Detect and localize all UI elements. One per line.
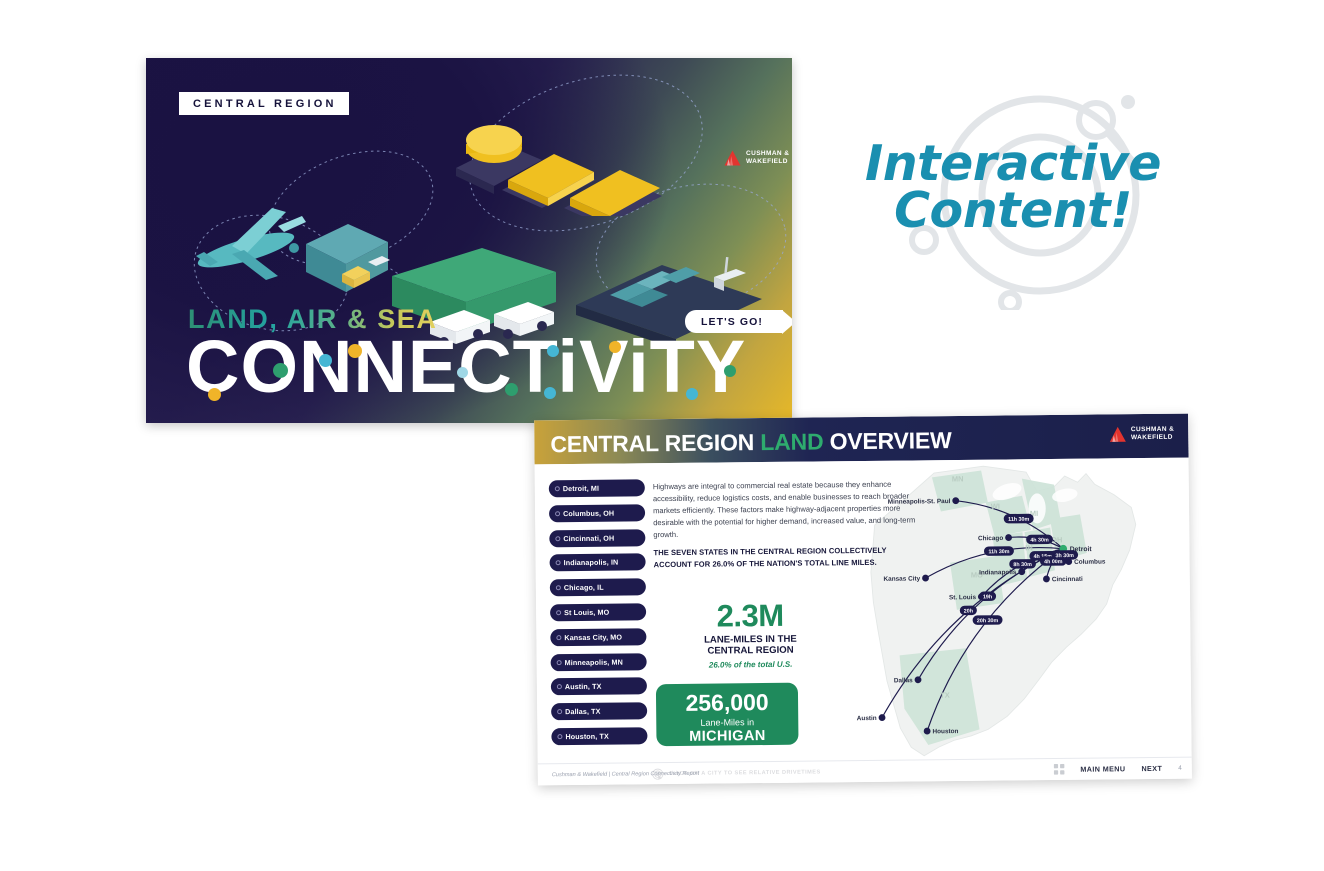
city-pill[interactable]: Houston, TX xyxy=(551,727,647,745)
city-pill[interactable]: Detroit, MI xyxy=(549,479,645,497)
slide-header: CENTRAL REGION LAND OVERVIEW CUSHMAN & W… xyxy=(534,414,1188,465)
drivetime-pill-label: 20h 30m xyxy=(977,618,999,624)
map-city-label: Austin xyxy=(857,715,877,722)
promo-headline-line1: Interactive xyxy=(838,140,1188,187)
drivetime-pill: 20h xyxy=(960,606,977,616)
map-city-label: Dallas xyxy=(894,677,913,684)
city-pill[interactable]: Austin, TX xyxy=(551,678,647,696)
map-state-label: IN xyxy=(1025,543,1033,552)
map-city-label: Kansas City xyxy=(883,575,920,582)
cushman-wakefield-logo: CUSHMAN & WAKEFIELD xyxy=(1109,426,1174,443)
land-overview-slide[interactable]: CENTRAL REGION LAND OVERVIEW CUSHMAN & W… xyxy=(534,414,1192,786)
cw-logo-mark xyxy=(1109,426,1126,442)
header-title-accent: LAND xyxy=(760,428,823,455)
drivetime-pill: 8h 30m xyxy=(1009,559,1036,569)
drivetime-pill-label: 3h 30m xyxy=(1055,553,1074,559)
lane-miles-stat: 2.3M LANE-MILES IN THE CENTRAL REGION 26… xyxy=(660,599,841,670)
highlight-number: 256,000 xyxy=(656,691,798,715)
accent-dot xyxy=(547,345,559,357)
slide-body: MNWIMIILINOHMOTX Minneapolis-St. PaulChi… xyxy=(535,458,1192,786)
city-pill-label: St Louis, MO xyxy=(564,608,609,617)
cw-logo-line1: CUSHMAN & xyxy=(746,150,789,158)
header-title-pre: CENTRAL REGION xyxy=(550,429,760,457)
city-pill-label: Columbus, OH xyxy=(563,508,614,518)
intro-text-block: Highways are integral to commercial real… xyxy=(653,478,918,570)
map-state-label: TX xyxy=(940,691,950,700)
drivetime-pill-label: 20h xyxy=(964,608,973,614)
michigan-highlight-box: 256,000 Lane-Miles in MICHIGAN xyxy=(656,683,799,746)
location-pin-icon xyxy=(555,486,560,491)
accent-dot xyxy=(544,387,556,399)
cushman-wakefield-logo: CUSHMAN & WAKEFIELD xyxy=(724,150,789,166)
drivetime-pill: 3h 30m xyxy=(1051,550,1078,560)
drivetime-pill-label: 19h xyxy=(983,594,992,600)
location-pin-icon xyxy=(557,660,562,665)
footer-credit: Cushman & Wakefield | Central Region Con… xyxy=(552,770,700,778)
city-pill[interactable]: Minneapolis, MN xyxy=(551,653,647,671)
city-pill-label: Austin, TX xyxy=(565,682,602,691)
stat-sublabel: 26.0% of the total U.S. xyxy=(661,659,841,670)
city-list[interactable]: Detroit, MIColumbus, OHCincinnati, OHInd… xyxy=(549,479,648,753)
cover-slide[interactable]: CENTRAL REGION CUSHMAN & WAKEFIELD Bette… xyxy=(146,58,792,423)
map-city-label: St. Louis xyxy=(949,594,977,601)
drivetime-pill: 19h xyxy=(979,591,996,601)
map-state-label: MN xyxy=(952,474,964,483)
drivetime-pill: 11h 30m xyxy=(984,546,1014,556)
map-city-label: Houston xyxy=(932,728,958,735)
promo-headline: Interactive Content! xyxy=(838,140,1188,234)
footer-nav[interactable]: MAIN MENU NEXT 4 xyxy=(1053,763,1182,775)
accent-dot xyxy=(273,363,288,378)
map-city-label: Columbus xyxy=(1074,559,1106,566)
drivetime-pill: 4h 30m xyxy=(1026,535,1053,545)
city-pill-label: Minneapolis, MN xyxy=(565,657,623,667)
location-pin-icon xyxy=(557,685,562,690)
cw-logo-mark xyxy=(724,150,741,166)
city-pill[interactable]: Kansas City, MO xyxy=(550,628,646,646)
main-menu-button[interactable]: MAIN MENU xyxy=(1080,764,1125,773)
stat-number: 2.3M xyxy=(660,599,840,632)
cw-logo-text: CUSHMAN & WAKEFIELD xyxy=(746,150,789,165)
highlight-middle-label: Lane-Miles in xyxy=(656,717,798,728)
highlight-state: MICHIGAN xyxy=(656,728,798,745)
grid-menu-icon[interactable] xyxy=(1053,764,1064,775)
location-pin-icon xyxy=(557,709,562,714)
city-pill[interactable]: Cincinnati, OH xyxy=(549,529,645,547)
city-pill-label: Dallas, TX xyxy=(565,707,600,716)
location-pin-icon xyxy=(556,561,561,566)
location-pin-icon xyxy=(557,734,562,739)
location-pin-icon xyxy=(556,635,561,640)
city-pill[interactable]: Indianapolis, IN xyxy=(550,554,646,572)
accent-dot xyxy=(348,344,362,358)
drivetime-pill: 11h 30m xyxy=(1004,514,1034,524)
drivetime-pill-label: 4h 30m xyxy=(1030,537,1049,543)
slide-footer: Cushman & Wakefield | Central Region Con… xyxy=(538,757,1192,786)
stat-label-line2: CENTRAL REGION xyxy=(660,645,840,658)
slide-header-title: CENTRAL REGION LAND OVERVIEW xyxy=(550,427,951,458)
location-pin-icon xyxy=(556,610,561,615)
freight-train-illustration xyxy=(446,96,766,216)
city-pill-label: Indianapolis, IN xyxy=(564,558,619,568)
accent-dot xyxy=(457,367,468,378)
location-pin-icon xyxy=(555,536,560,541)
cw-logo-line2: WAKEFIELD xyxy=(746,158,789,166)
city-pill-label: Kansas City, MO xyxy=(564,632,622,642)
accent-dot xyxy=(724,365,736,377)
intro-paragraph-bold: THE SEVEN STATES IN THE CENTRAL REGION C… xyxy=(653,544,917,570)
drivetime-pill-label: 11h 30m xyxy=(1008,517,1029,523)
map-city-label: Cincinnati xyxy=(1052,576,1083,583)
drivetime-pill-label: 11h 30m xyxy=(988,549,1009,555)
accent-dot xyxy=(319,354,332,367)
map-city-node[interactable] xyxy=(879,714,886,721)
cw-logo-line2: WAKEFIELD xyxy=(1131,434,1174,442)
header-title-post: OVERVIEW xyxy=(823,427,951,454)
city-pill[interactable]: Chicago, IL xyxy=(550,578,646,596)
location-pin-icon xyxy=(556,585,561,590)
city-pill-label: Cincinnati, OH xyxy=(563,533,614,543)
city-pill-label: Houston, TX xyxy=(565,732,609,741)
city-pill-label: Chicago, IL xyxy=(564,583,604,592)
next-button[interactable]: NEXT xyxy=(1141,764,1162,773)
cover-title: CONNECTiViTY xyxy=(186,330,746,404)
accent-dot xyxy=(208,388,221,401)
map-city-label: Chicago xyxy=(978,535,1003,542)
accent-dot xyxy=(505,383,518,396)
promo-headline-line2: Content! xyxy=(838,187,1188,234)
region-badge: CENTRAL REGION xyxy=(179,92,349,115)
accent-dot xyxy=(686,388,698,400)
drivetime-pill-label: 8h 30m xyxy=(1013,562,1032,568)
drivetime-pill: 20h 30m xyxy=(973,615,1003,625)
map-state-label: WI xyxy=(991,502,1000,511)
stat-label: LANE-MILES IN THE CENTRAL REGION xyxy=(660,633,840,658)
drivetime-pill-label: 4h 00m xyxy=(1044,559,1063,565)
city-pill[interactable]: Dallas, TX xyxy=(551,702,647,720)
location-pin-icon xyxy=(555,511,560,516)
page-number: 4 xyxy=(1178,765,1182,772)
cw-logo-text: CUSHMAN & WAKEFIELD xyxy=(1131,426,1174,442)
map-city-label: Indianapolis xyxy=(979,569,1017,576)
lets-go-button[interactable]: LET'S GO! xyxy=(685,310,783,333)
intro-paragraph: Highways are integral to commercial real… xyxy=(653,478,918,541)
accent-dot xyxy=(609,341,621,353)
city-pill-label: Detroit, MI xyxy=(563,484,599,493)
city-pill[interactable]: St Louis, MO xyxy=(550,603,646,621)
city-pill[interactable]: Columbus, OH xyxy=(549,504,645,522)
